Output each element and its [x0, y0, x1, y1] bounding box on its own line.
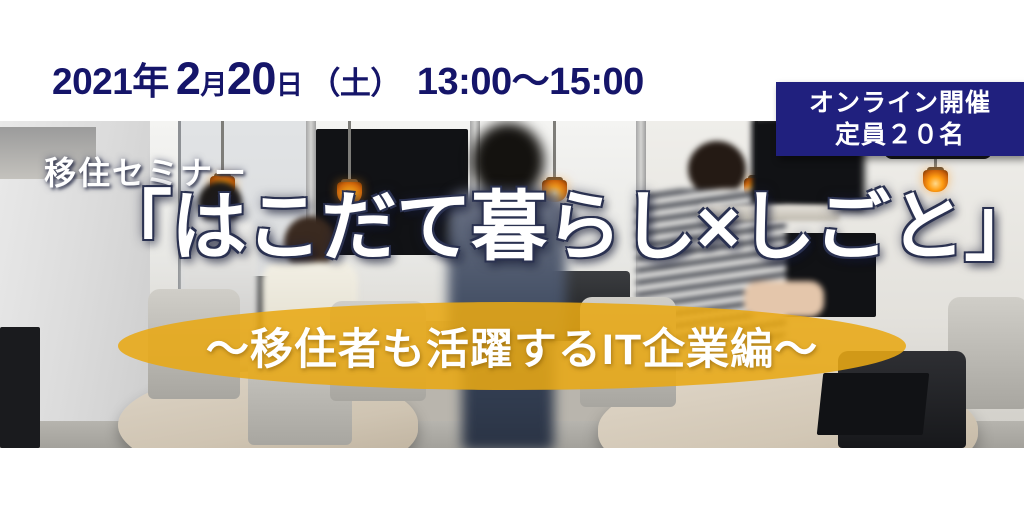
pendant-lamp-2 — [348, 121, 351, 183]
event-time: 13:00〜15:00 — [417, 61, 644, 103]
status-badge: オンライン開催 定員２０名 — [776, 82, 1024, 156]
dark-object-far-left — [0, 327, 40, 448]
person-walking-center — [440, 121, 570, 448]
event-datetime: 2021年2月20日（土）13:00〜15:00 — [52, 56, 644, 101]
event-year: 2021年 — [52, 61, 169, 102]
bottom-white-area — [0, 448, 1024, 512]
badge-line-capacity: 定員２０名 — [835, 119, 965, 151]
seminar-banner: 2021年2月20日（土）13:00〜15:00 — [0, 0, 1024, 512]
event-day: 20 — [227, 53, 276, 104]
page-title: 「はこだて暮らし×しごと」 — [96, 190, 1024, 266]
subtitle-ellipse: 〜移住者も活躍するIT企業編〜 — [118, 302, 906, 390]
subtitle-label: 〜移住者も活躍するIT企業編〜 — [118, 302, 906, 390]
badge-line-format: オンライン開催 — [809, 87, 991, 119]
event-month-unit: 月 — [200, 70, 227, 100]
event-day-unit: 日 — [276, 70, 303, 100]
event-month: 2 — [176, 53, 201, 104]
event-weekday: （土） — [309, 66, 401, 101]
